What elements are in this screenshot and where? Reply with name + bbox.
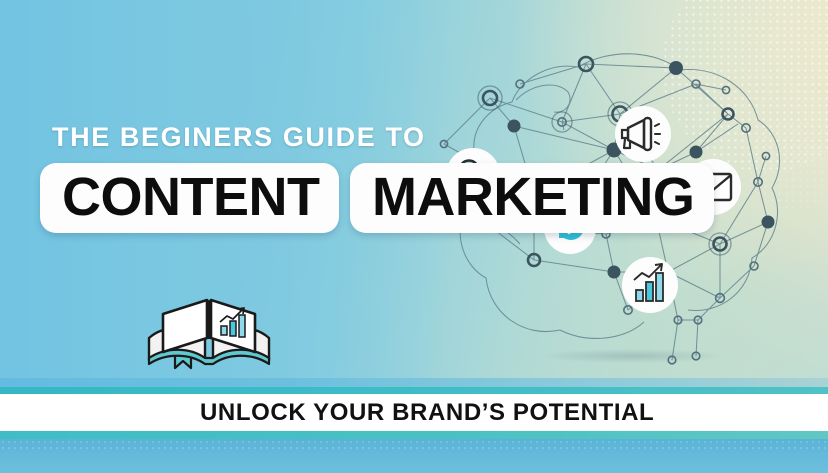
page-kicker: THE BEGINERS GUIDE TO xyxy=(52,122,426,153)
banner-bottom-texture xyxy=(0,439,828,449)
title-group: CONTENT MARKETING xyxy=(40,163,714,233)
banner-tagline: UNLOCK YOUR BRAND’S POTENTIAL xyxy=(200,399,654,427)
bar-chart-icon[interactable] xyxy=(622,257,678,313)
page-title-line2: MARKETING xyxy=(372,170,694,224)
megaphone-icon[interactable] xyxy=(615,106,671,162)
page-title-line1: CONTENT xyxy=(62,170,319,224)
poster-canvas: THE BEGINERS GUIDE TO CONTENT MARKETING … xyxy=(0,0,828,473)
title-box-line2: MARKETING xyxy=(350,163,714,233)
open-book-with-chart-icon xyxy=(143,276,275,372)
title-box-line1: CONTENT xyxy=(40,163,339,233)
